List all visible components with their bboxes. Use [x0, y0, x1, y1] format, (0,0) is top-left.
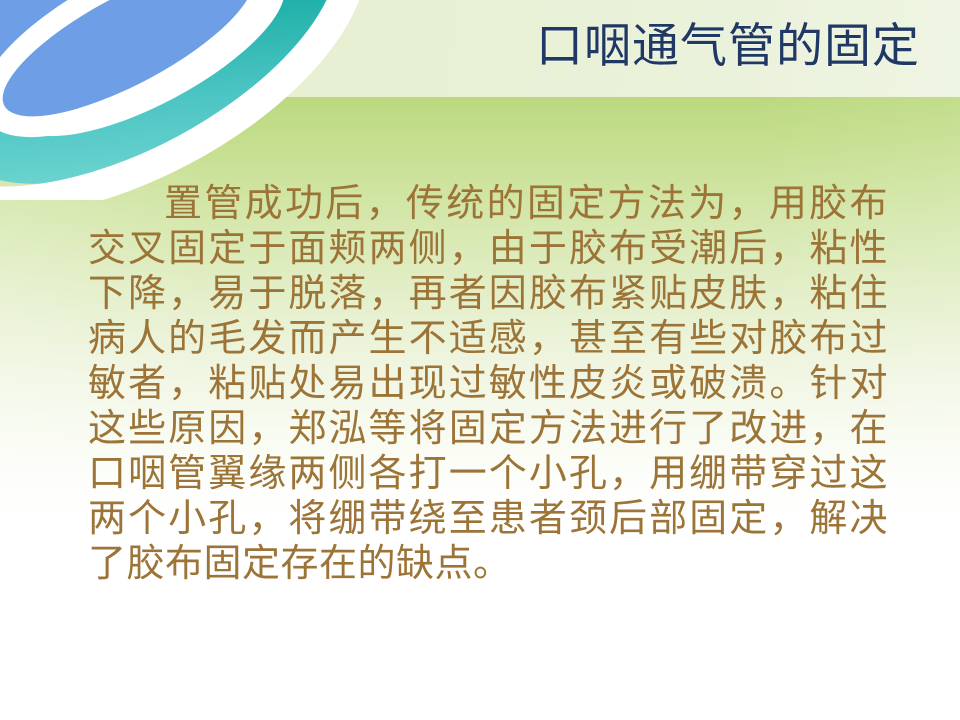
slide-body: 置管成功后，传统的固定方法为，用胶布交叉固定于面颊两侧，由于胶布受潮后，粘性下降…	[88, 182, 888, 587]
body-paragraph: 置管成功后，传统的固定方法为，用胶布交叉固定于面颊两侧，由于胶布受潮后，粘性下降…	[88, 182, 888, 587]
swoosh-logo-motif	[0, 0, 420, 200]
swoosh-svg	[0, 0, 420, 200]
presentation-slide: 口咽通气管的固定 置管成功后，传统的固定方法为，用胶布交叉固定于面颊两侧，由于胶…	[0, 0, 960, 720]
slide-title: 口咽通气管的固定	[430, 10, 920, 84]
